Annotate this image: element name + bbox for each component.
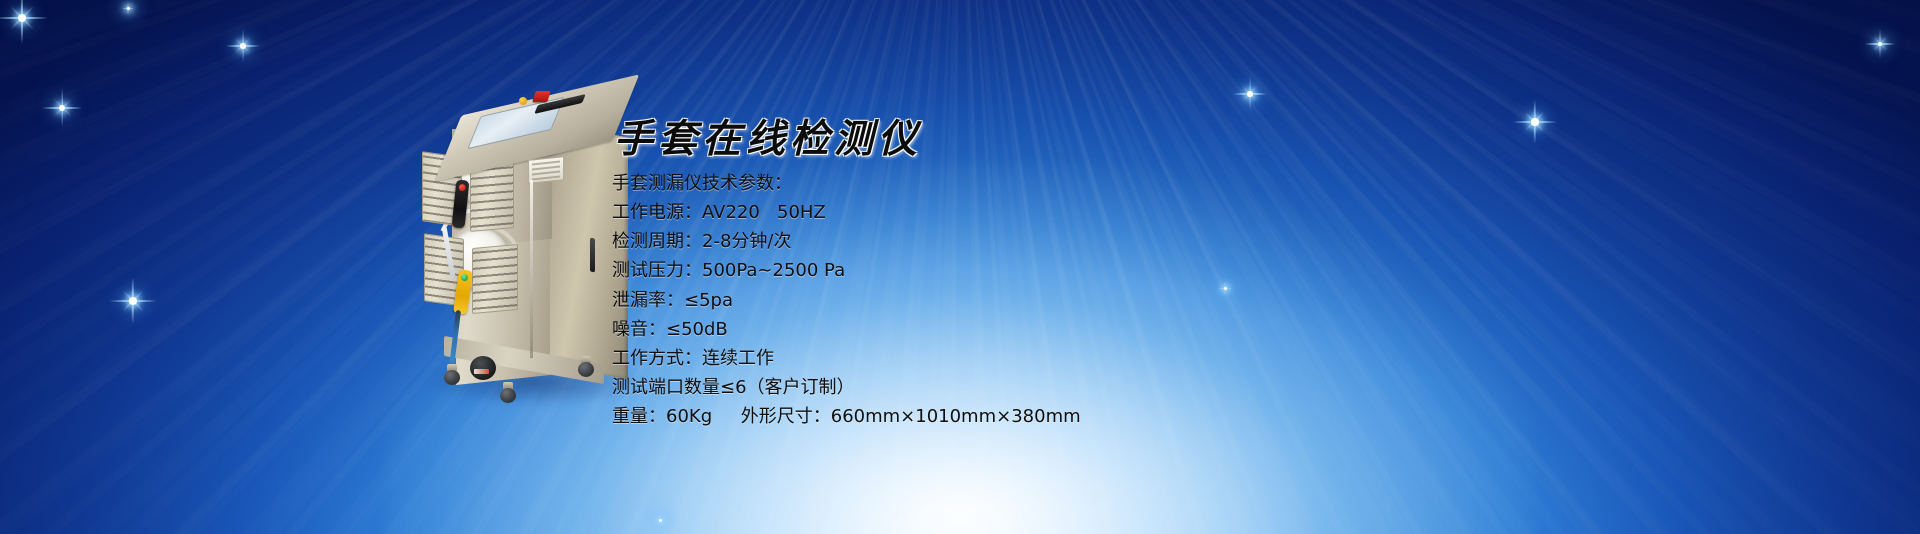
amber-indicator-lamp (519, 97, 527, 105)
cabinet-door-seam (530, 180, 533, 358)
specs-heading: 手套测漏仪技术参数： (612, 169, 1512, 198)
spec-line: 测试压力：500Pa~2500 Pa (612, 256, 1512, 285)
spec-list: 工作电源：AV220 50HZ检测周期：2-8分钟/次测试压力：500Pa~25… (612, 198, 1512, 431)
spec-line: 检测周期：2-8分钟/次 (612, 227, 1512, 256)
caster-front-left (444, 364, 460, 384)
perforated-vent-grille-upper-right (470, 162, 514, 232)
spec-line: 泄漏率：≤5pa (612, 286, 1512, 315)
perforated-vent-grille-lower-right (472, 244, 518, 314)
base-black-module (470, 356, 496, 380)
caster-rear-right (578, 356, 594, 376)
spec-line: 工作电源：AV220 50HZ (612, 198, 1512, 227)
product-text-block: 手套在线检测仪 手套测漏仪技术参数： 工作电源：AV220 50HZ检测周期：2… (612, 118, 1512, 431)
machine-nameplate (528, 156, 564, 184)
promo-banner: 手套在线检测仪 手套测漏仪技术参数： 工作电源：AV220 50HZ检测周期：2… (0, 0, 1920, 534)
caster-wheel (578, 362, 594, 377)
spec-line: 工作方式：连续工作 (612, 344, 1512, 373)
spec-line: 重量：60Kg 外形尺寸：660mm×1010mm×380mm (612, 402, 1512, 431)
caster-wheel (444, 370, 460, 385)
spec-line: 噪音：≤50dB (612, 315, 1512, 344)
page-title: 手套在线检测仪 (614, 118, 1512, 161)
caster-front-right (500, 382, 516, 402)
spec-line: 测试端口数量≤6（客户订制） (612, 373, 1512, 402)
cabinet-door-handle (590, 238, 595, 273)
caster-wheel (500, 388, 516, 403)
